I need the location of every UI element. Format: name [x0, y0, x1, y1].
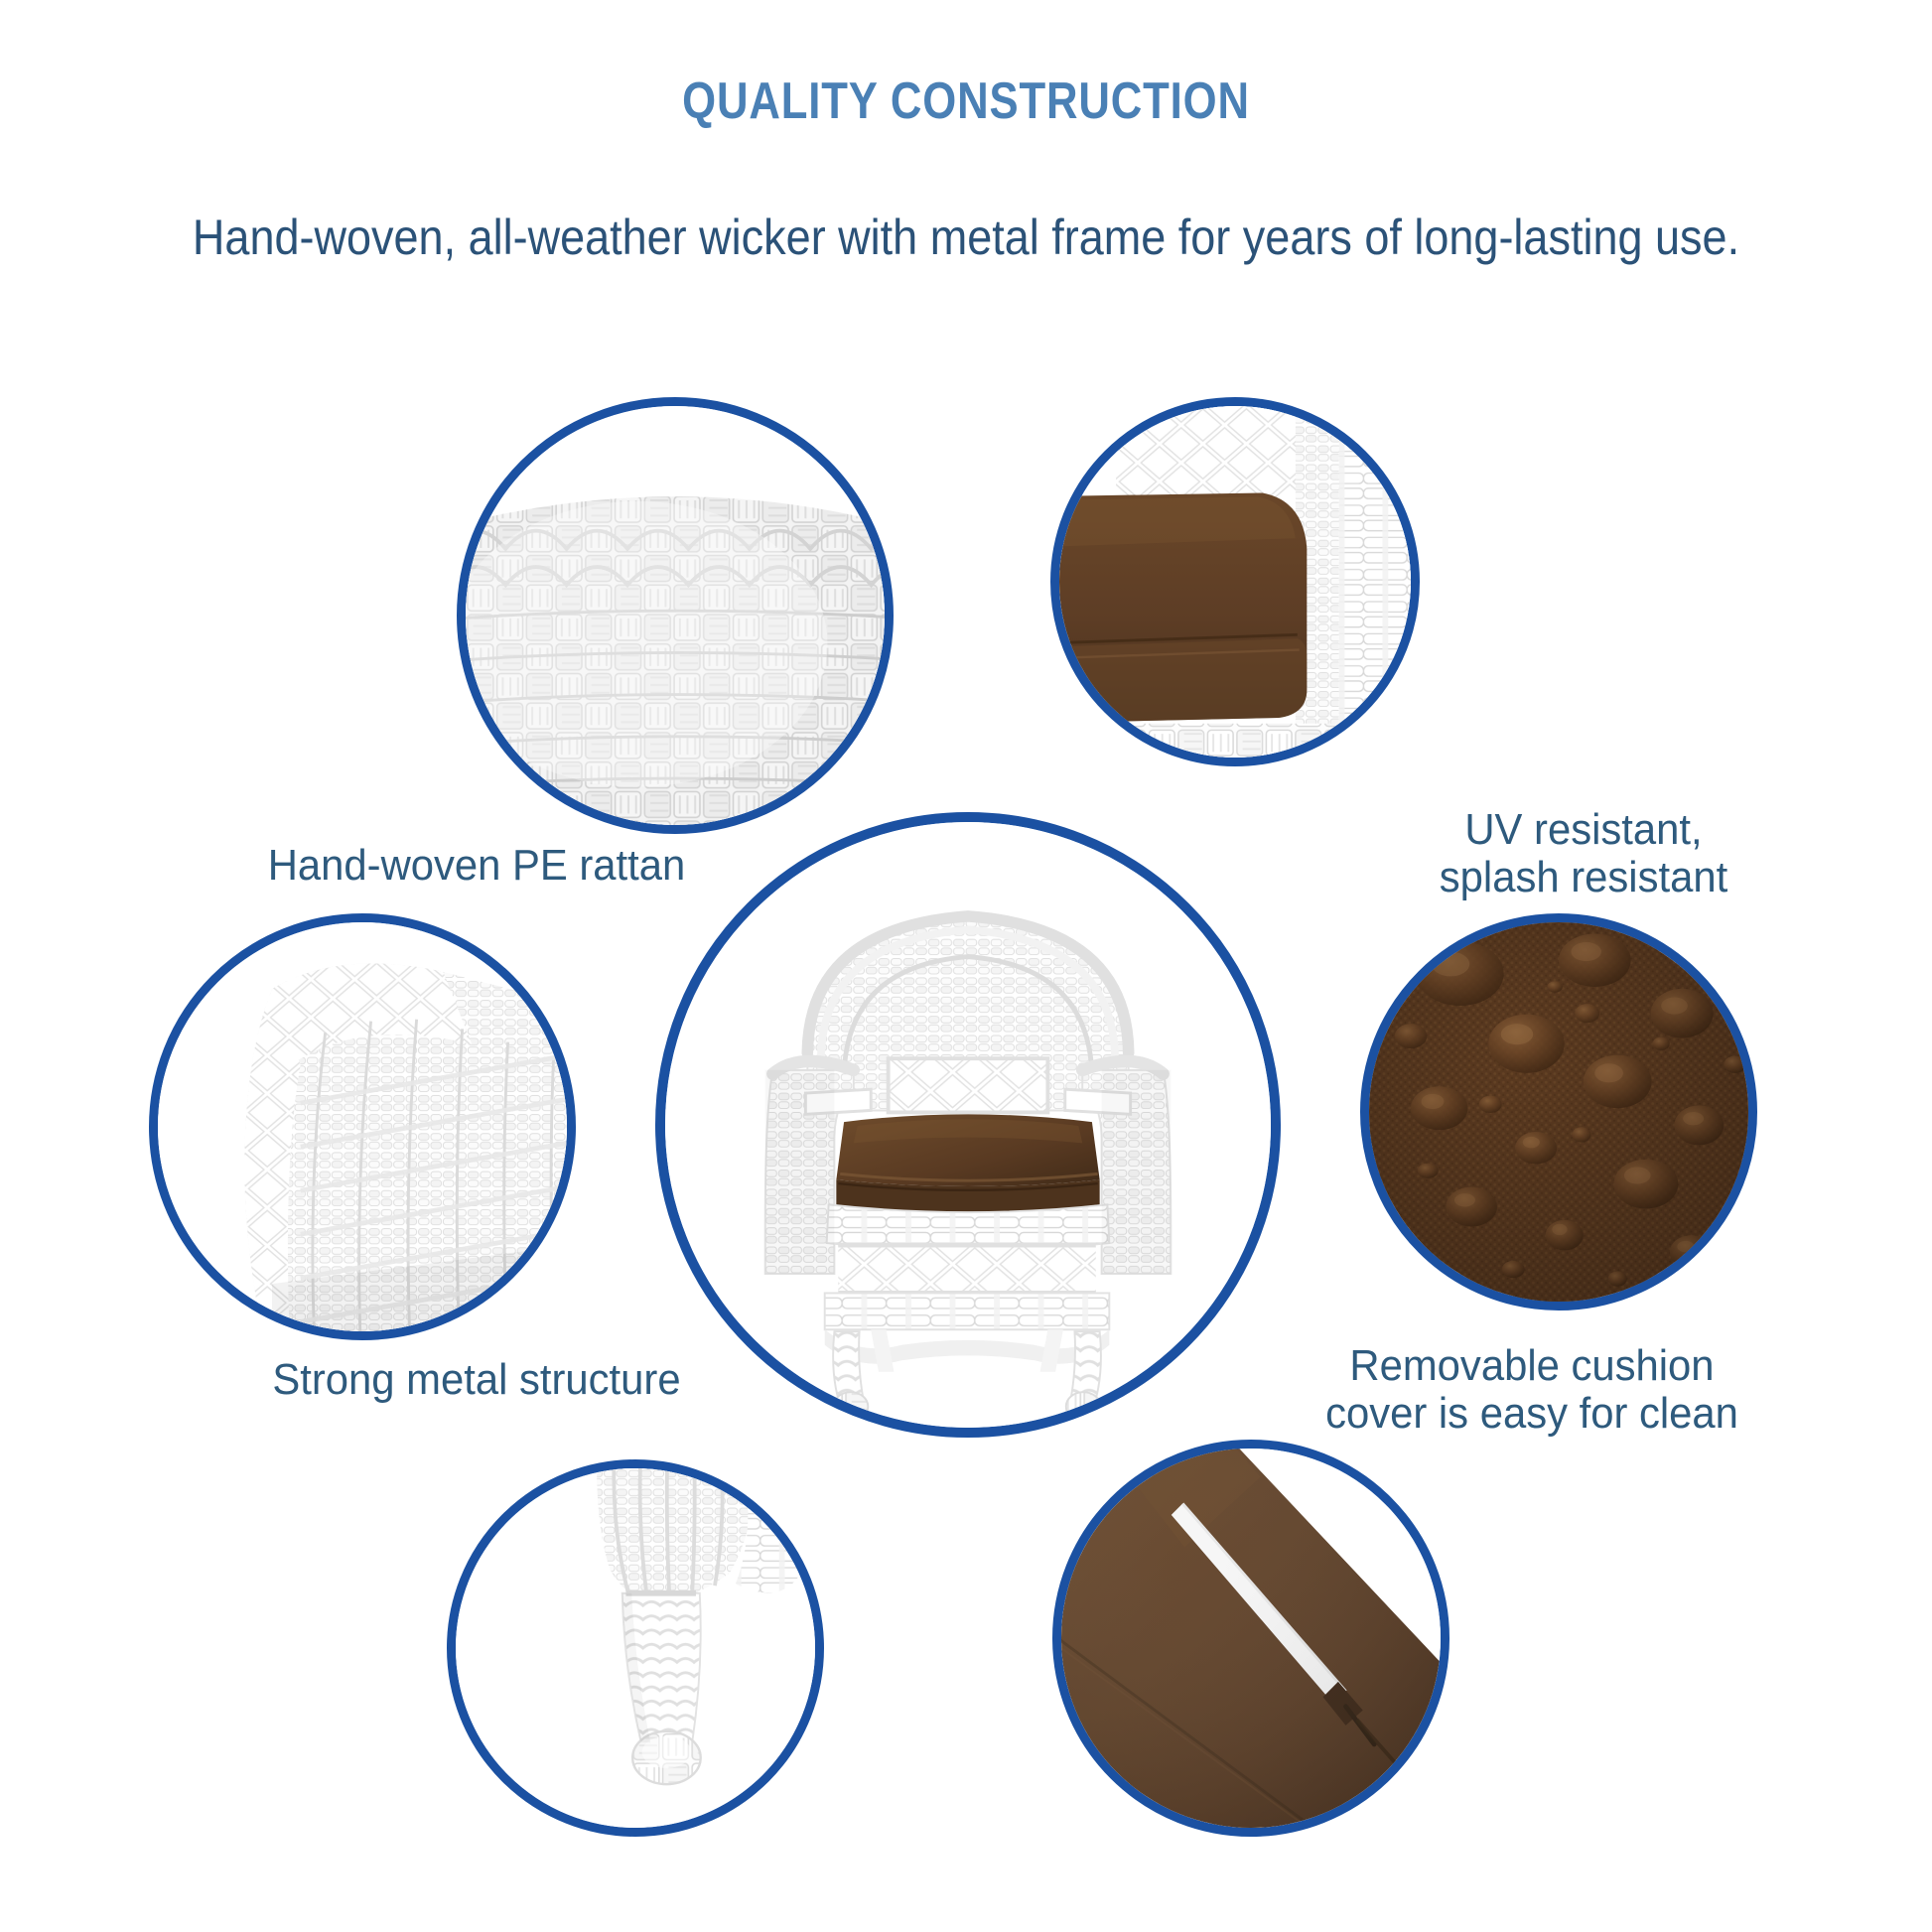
image-brown-cushion-on-white-wicker-chair	[1059, 406, 1411, 758]
callout-circle-uv-splash-resistant	[1050, 397, 1420, 766]
infographic-canvas: QUALITY CONSTRUCTION Hand-woven, all-wea…	[0, 0, 1932, 1932]
image-brown-cushion-zipper-closeup	[1061, 1449, 1441, 1828]
image-water-droplets-on-brown-fabric	[1369, 922, 1748, 1302]
image-white-wicker-chair-with-brown-cushion	[665, 822, 1271, 1428]
callout-circle-strong-metal-structure	[149, 913, 576, 1340]
callout-circle-removable-cushion-cover	[1052, 1440, 1449, 1837]
page-subtitle: Hand-woven, all-weather wicker with meta…	[96, 208, 1835, 266]
callout-label-uv-splash-resistant: UV resistant, splash resistant	[1362, 806, 1806, 900]
callout-circle-center-product	[655, 812, 1281, 1438]
callout-circle-chair-leg	[447, 1459, 824, 1837]
callout-circle-hand-woven-pe-rattan	[457, 397, 894, 834]
callout-label-strong-metal-structure: Strong metal structure	[137, 1356, 816, 1404]
callout-circle-water-repellent-fabric	[1360, 913, 1757, 1311]
callout-label-removable-cushion-cover: Removable cushion cover is easy for clea…	[1292, 1342, 1773, 1437]
callout-label-hand-woven-pe-rattan: Hand-woven PE rattan	[137, 842, 816, 890]
image-white-wicker-weave-closeup	[466, 406, 885, 825]
image-white-wicker-chair-leg	[456, 1468, 815, 1828]
image-white-wicker-chair-arm-corner	[158, 922, 567, 1331]
page-title: QUALITY CONSTRUCTION	[155, 71, 1778, 131]
